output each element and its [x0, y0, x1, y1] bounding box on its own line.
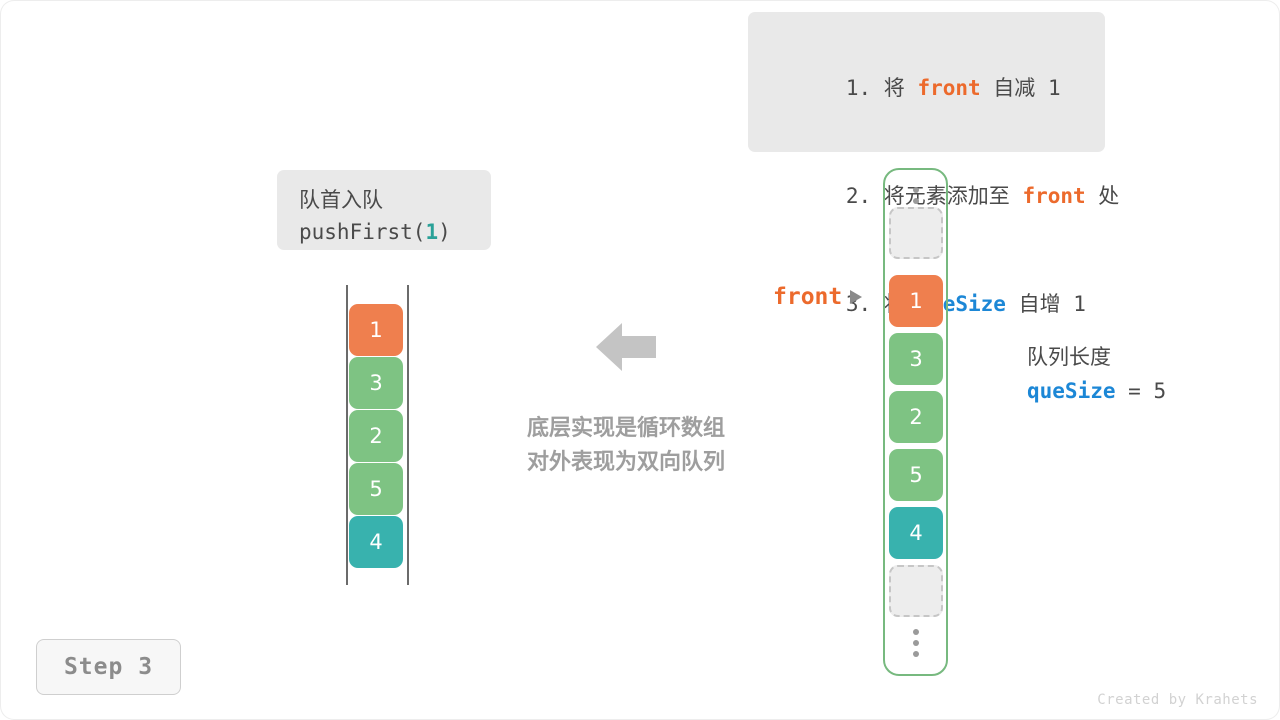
instruction-line-1: 1. 将 front 自减 1	[770, 34, 1105, 142]
quesize-expression: queSize = 5	[1027, 374, 1166, 408]
instruction-line-3-suffix: 自增 1	[1006, 292, 1086, 316]
linear-cell-1: 3	[349, 357, 403, 409]
instruction-line-1-keyword: front	[917, 76, 980, 100]
quesize-equals: =	[1116, 379, 1154, 403]
middle-caption: 底层实现是循环数组 对外表现为双向队列	[503, 412, 749, 480]
operation-code-arg: 1	[425, 220, 438, 244]
circular-cell-5: 4	[889, 507, 943, 559]
array-rail-left	[346, 285, 348, 585]
front-arrow-icon	[850, 290, 862, 304]
step-badge-label: Step 3	[64, 654, 153, 680]
credit-text: Created by Krahets	[1097, 692, 1258, 708]
operation-label: 队首入队 pushFirst(1)	[277, 170, 491, 250]
middle-caption-line-2: 对外表现为双向队列	[503, 446, 749, 480]
circular-array: 1 3 2 5 4	[883, 168, 948, 676]
circular-cell-4: 5	[889, 449, 943, 501]
instruction-line-2-keyword: front	[1022, 184, 1085, 208]
operation-code: pushFirst(1)	[299, 216, 491, 248]
quesize-name: queSize	[1027, 379, 1116, 403]
linear-cell-0: 1	[349, 304, 403, 356]
circular-cell-1: 1	[889, 275, 943, 327]
middle-caption-line-1: 底层实现是循环数组	[503, 412, 749, 446]
linear-cell-2: 2	[349, 410, 403, 462]
quesize-number: 5	[1153, 379, 1166, 403]
diagram-canvas: 1. 将 front 自减 1 2. 将元素添加至 front 处 3. 将 q…	[0, 0, 1280, 720]
front-pointer-label: front	[773, 284, 842, 310]
linear-cell-3: 5	[349, 463, 403, 515]
linear-cell-4: 4	[349, 516, 403, 568]
bottom-ellipsis-icon	[913, 629, 919, 657]
operation-code-prefix: pushFirst(	[299, 220, 425, 244]
step-badge: Step 3	[36, 639, 181, 695]
circular-cell-2: 3	[889, 333, 943, 385]
quesize-title: 队列长度	[1027, 340, 1166, 374]
front-pointer: front	[773, 284, 862, 310]
instruction-panel: 1. 将 front 自减 1 2. 将元素添加至 front 处 3. 将 q…	[748, 12, 1105, 152]
operation-code-suffix: )	[438, 220, 451, 244]
linear-array: 1 3 2 5 4	[340, 285, 416, 585]
circular-cell-6	[889, 565, 943, 617]
left-arrow-icon	[596, 321, 656, 373]
circular-cell-3: 2	[889, 391, 943, 443]
operation-title: 队首入队	[299, 184, 491, 216]
circular-cell-0	[889, 207, 943, 259]
instruction-line-1-prefix: 1. 将	[846, 76, 918, 100]
array-rail-right	[407, 285, 409, 585]
quesize-note: 队列长度 queSize = 5	[1027, 340, 1166, 408]
instruction-line-2-suffix: 处	[1086, 184, 1120, 208]
instruction-line-1-suffix: 自减 1	[981, 76, 1061, 100]
